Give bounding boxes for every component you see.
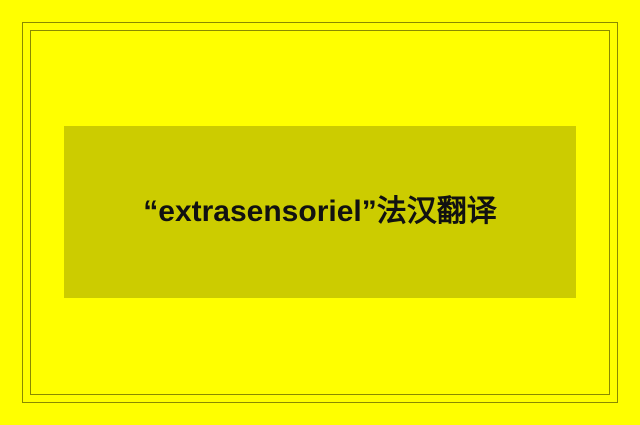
- banner-canvas: “extrasensoriel”法汉翻译: [0, 0, 640, 425]
- banner-title: “extrasensoriel”法汉翻译: [64, 184, 576, 240]
- title-band: “extrasensoriel”法汉翻译: [64, 126, 576, 298]
